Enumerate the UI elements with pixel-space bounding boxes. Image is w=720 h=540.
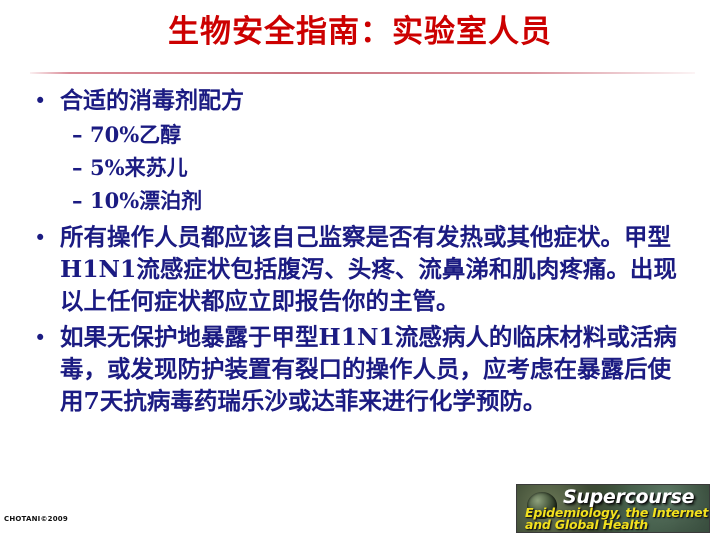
slide-canvas: 生物安全指南：实验室人员 • 合适的消毒剂配方 – 70%乙醇 – 5%来苏儿 … [0, 0, 720, 540]
title-divider [30, 72, 695, 74]
sub-bullet-dash-icon: – [72, 151, 90, 184]
bullet-dot-icon: • [34, 84, 60, 118]
sub-bullet-item-2: – 5%来苏儿 [72, 151, 694, 184]
page-title: 生物安全指南：实验室人员 [0, 12, 720, 52]
slide-body: • 合适的消毒剂配方 – 70%乙醇 – 5%来苏儿 – 10%漂泊剂 • 所有… [34, 84, 694, 417]
bullet-item-3-text: 如果无保护地暴露于甲型H1N1流感病人的临床材料或活病毒，或发现防护装置有裂口的… [60, 321, 694, 417]
bullet-item-1: • 合适的消毒剂配方 [34, 84, 694, 118]
supercourse-logo: Supercourse Epidemiology, the Internet a… [516, 484, 710, 533]
bullet-item-2: • 所有操作人员都应该自己监察是否有发热或其他症状。甲型H1N1流感症状包括腹泻… [34, 221, 694, 317]
bullet-item-2-text: 所有操作人员都应该自己监察是否有发热或其他症状。甲型H1N1流感症状包括腹泻、头… [60, 221, 694, 317]
sub-bullet-item-3: – 10%漂泊剂 [72, 184, 694, 217]
bullet-item-1-text: 合适的消毒剂配方 [60, 84, 694, 118]
sub-bullet-item-1-text: 70%乙醇 [90, 118, 694, 151]
sub-bullet-item-2-text: 5%来苏儿 [90, 151, 694, 184]
sub-bullet-dash-icon: – [72, 118, 90, 151]
copyright-watermark: CHOTANI©2009 [4, 515, 68, 523]
logo-title: Supercourse [563, 487, 694, 507]
logo-subtitle-line-2: and Global Health [525, 518, 648, 532]
sub-bullet-dash-icon: – [72, 184, 90, 217]
bullet-dot-icon: • [34, 221, 60, 255]
sub-bullet-item-1: – 70%乙醇 [72, 118, 694, 151]
bullet-dot-icon: • [34, 321, 60, 355]
bullet-item-3: • 如果无保护地暴露于甲型H1N1流感病人的临床材料或活病毒，或发现防护装置有裂… [34, 321, 694, 417]
sub-bullet-item-3-text: 10%漂泊剂 [90, 184, 694, 217]
